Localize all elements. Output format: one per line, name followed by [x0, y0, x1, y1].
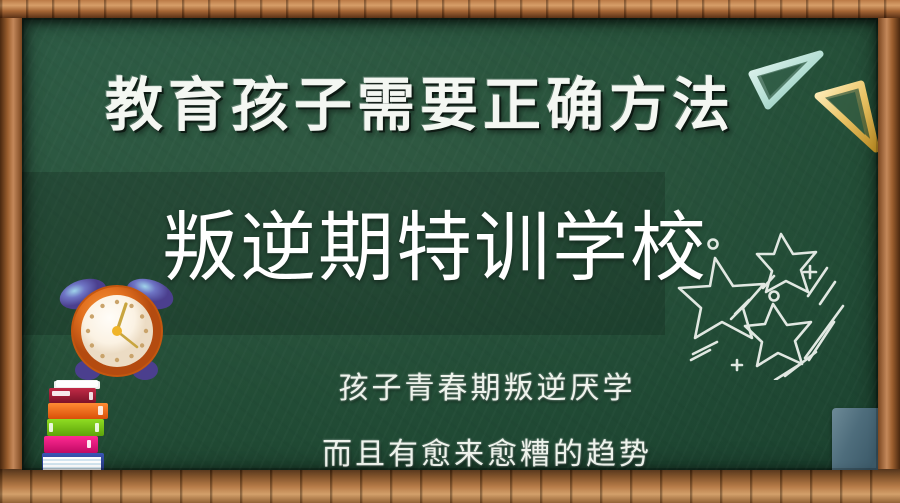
eraser-icon	[828, 406, 878, 470]
star-dot-1	[709, 240, 718, 249]
book-stack-icon	[40, 378, 190, 470]
streak-5	[731, 306, 744, 319]
blackboard-poster: 教育孩子需要正确方法 叛逆期特训学校 孩子青春期叛逆厌学 而且有愈来愈糟的趋势	[0, 0, 900, 503]
chalkboard-surface: 教育孩子需要正确方法 叛逆期特训学校 孩子青春期叛逆厌学 而且有愈来愈糟的趋势	[22, 18, 878, 470]
frame-top-rail	[0, 0, 900, 18]
triangle-ruler-gold-icon	[818, 84, 876, 149]
streak-3	[820, 282, 835, 304]
streak-6	[805, 306, 843, 358]
sparkle-1	[804, 266, 816, 278]
triangle-ruler-cyan-icon	[752, 54, 820, 106]
frame-left-rail	[0, 0, 22, 503]
star-dot-2	[770, 292, 779, 301]
streak-9	[775, 363, 802, 380]
clock-center-pin	[112, 326, 122, 336]
frame-right-rail	[878, 0, 900, 503]
subtitle-line-2: 而且有愈来愈糟的趋势	[277, 429, 697, 470]
star-small-icon	[745, 304, 811, 366]
triangle-rulers-group	[722, 36, 878, 166]
main-title-text: 叛逆期特训学校	[162, 210, 708, 286]
stars-doodle-group	[677, 230, 878, 380]
alarm-clock-icon	[50, 271, 185, 391]
eraser-felt-pad	[832, 408, 878, 470]
frame-bottom-ledge	[0, 469, 900, 503]
sparkle-2	[732, 360, 742, 370]
subtitle-line-1: 孩子青春期叛逆厌学	[277, 363, 697, 407]
subtitle-group: 孩子青春期叛逆厌学 而且有愈来愈糟的趋势	[277, 363, 697, 470]
